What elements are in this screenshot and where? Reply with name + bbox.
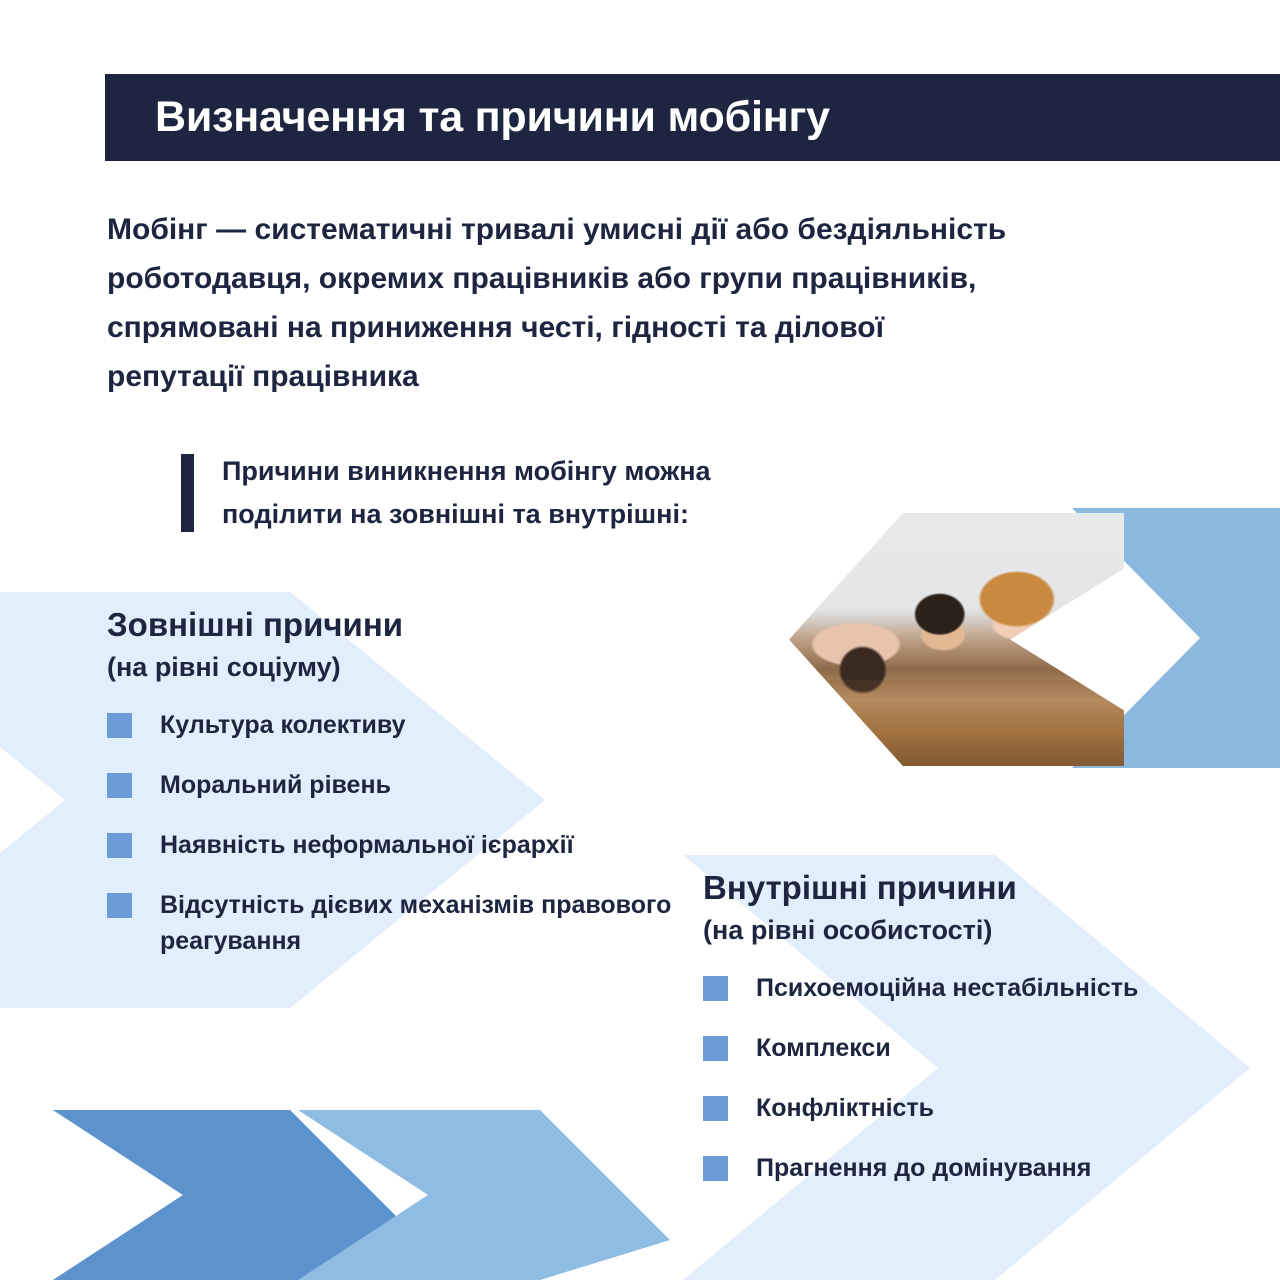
square-bullet-icon: [703, 976, 728, 1001]
section-external-title: Зовнішні причини: [107, 605, 727, 645]
chevron-bottom-dark-body: [53, 1110, 420, 1280]
section-external-causes: Зовнішні причини (на рівні соціуму) Куль…: [107, 605, 727, 983]
causes-subtitle: Причини виникнення мобінгу можна поділит…: [181, 450, 711, 536]
section-internal-causes: Внутрішні причини (на рівні особистості)…: [703, 868, 1263, 1210]
square-bullet-icon: [703, 1156, 728, 1181]
list-item: Культура колективу: [107, 707, 727, 743]
list-item: Комплекси: [703, 1030, 1263, 1066]
list-item: Відсутність дієвих механізмів правового …: [107, 887, 727, 959]
list-item: Наявність неформальної ієрархії: [107, 827, 727, 863]
list-item-label: Психоемоційна нестабільність: [756, 970, 1138, 1006]
office-mobbing-photo: [789, 513, 1124, 766]
section-internal-subtitle: (на рівні особистості): [703, 912, 1263, 948]
external-causes-list: Культура колективу Моральний рівень Наяв…: [107, 707, 727, 959]
causes-subtitle-text: Причини виникнення мобінгу можна поділит…: [222, 450, 711, 536]
square-bullet-icon: [703, 1036, 728, 1061]
page-title: Визначення та причини мобінгу: [105, 93, 830, 142]
square-bullet-icon: [107, 773, 132, 798]
accent-bar: [181, 454, 194, 532]
list-item-label: Наявність неформальної ієрархії: [160, 827, 574, 863]
square-bullet-icon: [107, 713, 132, 738]
list-item: Психоемоційна нестабільність: [703, 970, 1263, 1006]
list-item-label: Комплекси: [756, 1030, 891, 1066]
page-header-bar: Визначення та причини мобінгу: [105, 74, 1280, 161]
square-bullet-icon: [107, 893, 132, 918]
chevron-bottom-light: [298, 1110, 670, 1280]
list-item-label: Відсутність дієвих механізмів правового …: [160, 887, 727, 959]
list-item-label: Культура колективу: [160, 707, 406, 743]
section-external-subtitle: (на рівні соціуму): [107, 649, 727, 685]
list-item: Моральний рівень: [107, 767, 727, 803]
photo-image: [789, 513, 1124, 766]
definition-paragraph: Мобінг — систематичні тривалі умисні дії…: [107, 205, 1007, 401]
internal-causes-list: Психоемоційна нестабільність Комплекси К…: [703, 970, 1263, 1186]
list-item-label: Моральний рівень: [160, 767, 391, 803]
section-internal-title: Внутрішні причини: [703, 868, 1263, 908]
square-bullet-icon: [703, 1096, 728, 1121]
list-item-label: Прагнення до домінування: [756, 1150, 1091, 1186]
list-item: Прагнення до домінування: [703, 1150, 1263, 1186]
list-item-label: Конфліктність: [756, 1090, 934, 1126]
chevron-bottom-dark: [53, 1110, 420, 1280]
square-bullet-icon: [107, 833, 132, 858]
list-item: Конфліктність: [703, 1090, 1263, 1126]
